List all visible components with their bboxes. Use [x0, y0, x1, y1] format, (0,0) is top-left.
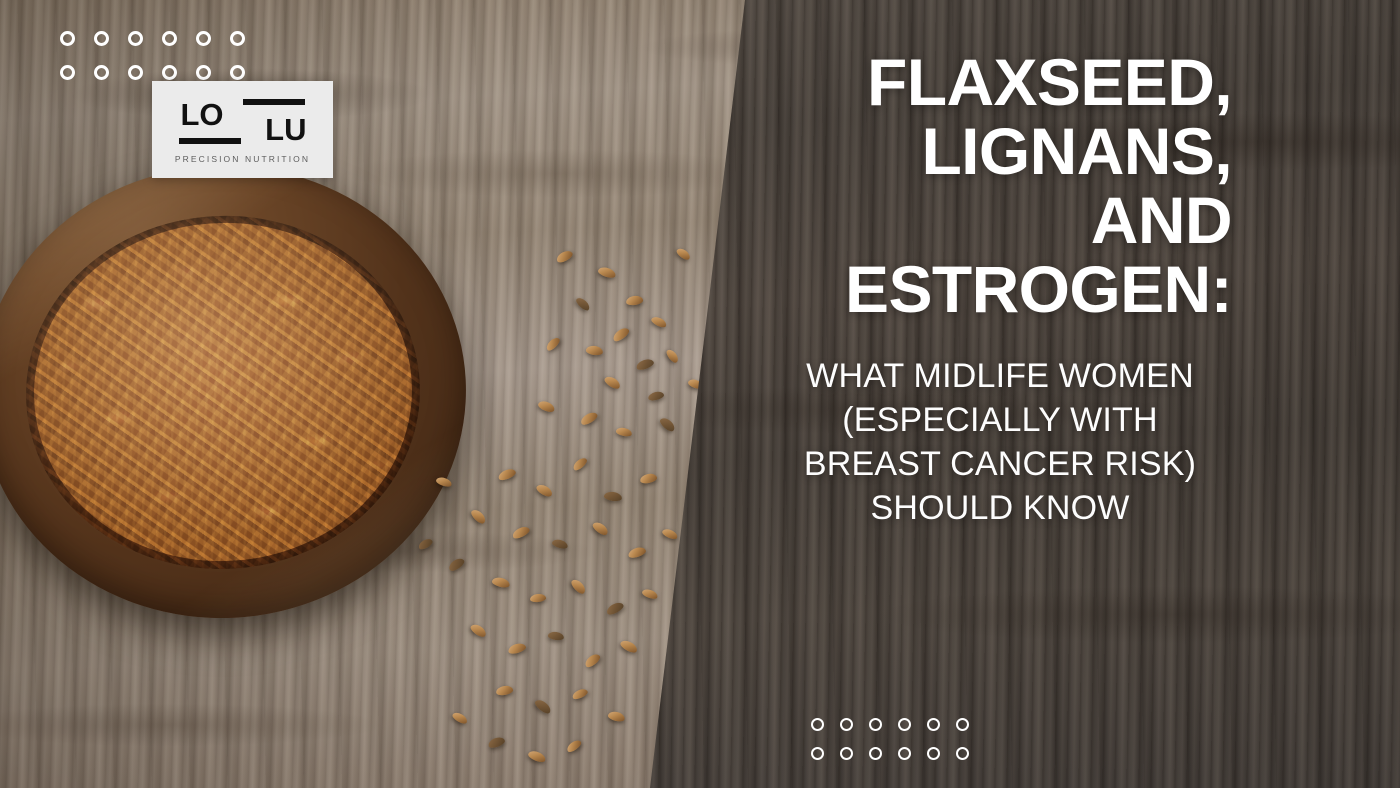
- flaxseed: [435, 476, 453, 489]
- flaxseed: [451, 711, 469, 726]
- decor-circle-icon: [94, 65, 109, 80]
- flaxseed: [603, 374, 622, 391]
- decor-circle-icon: [60, 31, 75, 46]
- flaxseed: [585, 345, 603, 356]
- flaxseed: [658, 416, 677, 434]
- logo-text-lu: LU: [265, 114, 306, 145]
- flaxseed: [417, 537, 434, 551]
- flaxseed: [625, 295, 643, 306]
- subheadline-line: BREAST CANCER RISK): [760, 442, 1240, 486]
- flaxseed: [639, 472, 657, 484]
- headline-line: LIGNANS,: [760, 117, 1232, 186]
- flaxseed: [583, 652, 602, 670]
- page-subtitle: WHAT MIDLIFE WOMEN(ESPECIALLY WITHBREAST…: [760, 354, 1240, 531]
- dot-grid-bottom: [811, 718, 985, 776]
- decor-circle-icon: [196, 31, 211, 46]
- headline-line: ESTROGEN:: [760, 255, 1232, 324]
- decor-circle-icon: [94, 31, 109, 46]
- flaxseed: [535, 482, 554, 498]
- flaxseed: [607, 710, 626, 723]
- logo-bar-top-icon: [243, 99, 305, 105]
- flaxseed: [507, 642, 527, 656]
- decor-circle-icon: [840, 747, 853, 760]
- flaxseed: [665, 348, 681, 365]
- headline-line: AND: [760, 186, 1232, 255]
- flaxseed: [511, 525, 531, 541]
- flaxseed: [641, 588, 659, 601]
- decor-circle-icon: [898, 747, 911, 760]
- decor-circle-icon: [60, 65, 75, 80]
- decor-circle-icon: [128, 65, 143, 80]
- flaxseed: [627, 545, 647, 559]
- logo-tagline: PRECISION NUTRITION: [175, 154, 310, 164]
- flaxseed: [574, 296, 591, 313]
- flaxseed: [650, 315, 668, 329]
- page-title: FLAXSEED,LIGNANS,ANDESTROGEN:: [760, 48, 1240, 324]
- flaxseed: [615, 426, 632, 437]
- flaxseed: [591, 520, 610, 537]
- flaxseed: [579, 410, 599, 427]
- decor-circle-icon: [162, 31, 177, 46]
- flaxseed: [569, 577, 587, 595]
- flaxseed: [619, 638, 639, 654]
- flaxseed: [597, 265, 617, 279]
- subheadline-line: SHOULD KNOW: [760, 486, 1240, 530]
- flaxseed: [491, 576, 511, 589]
- banner-text-block: FLAXSEED,LIGNANS,ANDESTROGEN: WHAT MIDLI…: [760, 48, 1240, 531]
- flaxseed: [530, 593, 547, 603]
- flaxseed: [603, 491, 622, 502]
- subheadline-line: WHAT MIDLIFE WOMEN: [760, 354, 1240, 398]
- decor-circle-icon: [162, 65, 177, 80]
- decor-circle-icon: [898, 718, 911, 731]
- decor-circle-icon: [811, 718, 824, 731]
- flaxseed: [565, 738, 583, 754]
- flaxseed: [548, 631, 565, 641]
- subheadline-line: (ESPECIALLY WITH: [760, 398, 1240, 442]
- flaxseed: [635, 357, 655, 372]
- flaxseed: [469, 622, 488, 639]
- decor-circle-icon: [956, 747, 969, 760]
- headline-line: FLAXSEED,: [760, 48, 1232, 117]
- lolu-logo-mark: LO LU: [179, 97, 307, 145]
- decor-circle-icon: [128, 31, 143, 46]
- flaxseed: [647, 390, 664, 402]
- decor-circle-icon: [927, 718, 940, 731]
- flaxseed: [497, 467, 517, 482]
- decor-circle-icon: [811, 747, 824, 760]
- flaxseed: [495, 685, 513, 697]
- flaxseed: [571, 687, 589, 701]
- decor-circle-icon: [230, 31, 245, 46]
- lolu-logo-card[interactable]: LO LU PRECISION NUTRITION: [152, 81, 333, 178]
- decor-circle-icon: [230, 65, 245, 80]
- flaxseed: [555, 249, 574, 265]
- flaxseed: [527, 749, 547, 764]
- flaxseed: [537, 399, 556, 414]
- decor-circle-icon: [869, 718, 882, 731]
- logo-bar-bottom-icon: [179, 138, 241, 144]
- decor-circle-icon: [840, 718, 853, 731]
- flaxseed: [487, 735, 506, 749]
- flaxseed: [551, 538, 569, 550]
- logo-text-lo: LO: [181, 99, 224, 130]
- decor-circle-icon: [927, 747, 940, 760]
- flaxseed: [661, 527, 679, 541]
- decor-circle-icon: [196, 65, 211, 80]
- flaxseed: [447, 556, 466, 573]
- banner-canvas: LO LU PRECISION NUTRITION FLAXSEED,LIGNA…: [0, 0, 1400, 788]
- flaxseed: [675, 246, 692, 261]
- flaxseed: [544, 336, 561, 353]
- decor-circle-icon: [956, 718, 969, 731]
- flaxseed: [533, 697, 553, 715]
- flaxseed: [571, 456, 588, 472]
- decor-circle-icon: [869, 747, 882, 760]
- flaxseed: [469, 507, 487, 525]
- flaxseed: [611, 326, 631, 344]
- flaxseed: [605, 600, 625, 616]
